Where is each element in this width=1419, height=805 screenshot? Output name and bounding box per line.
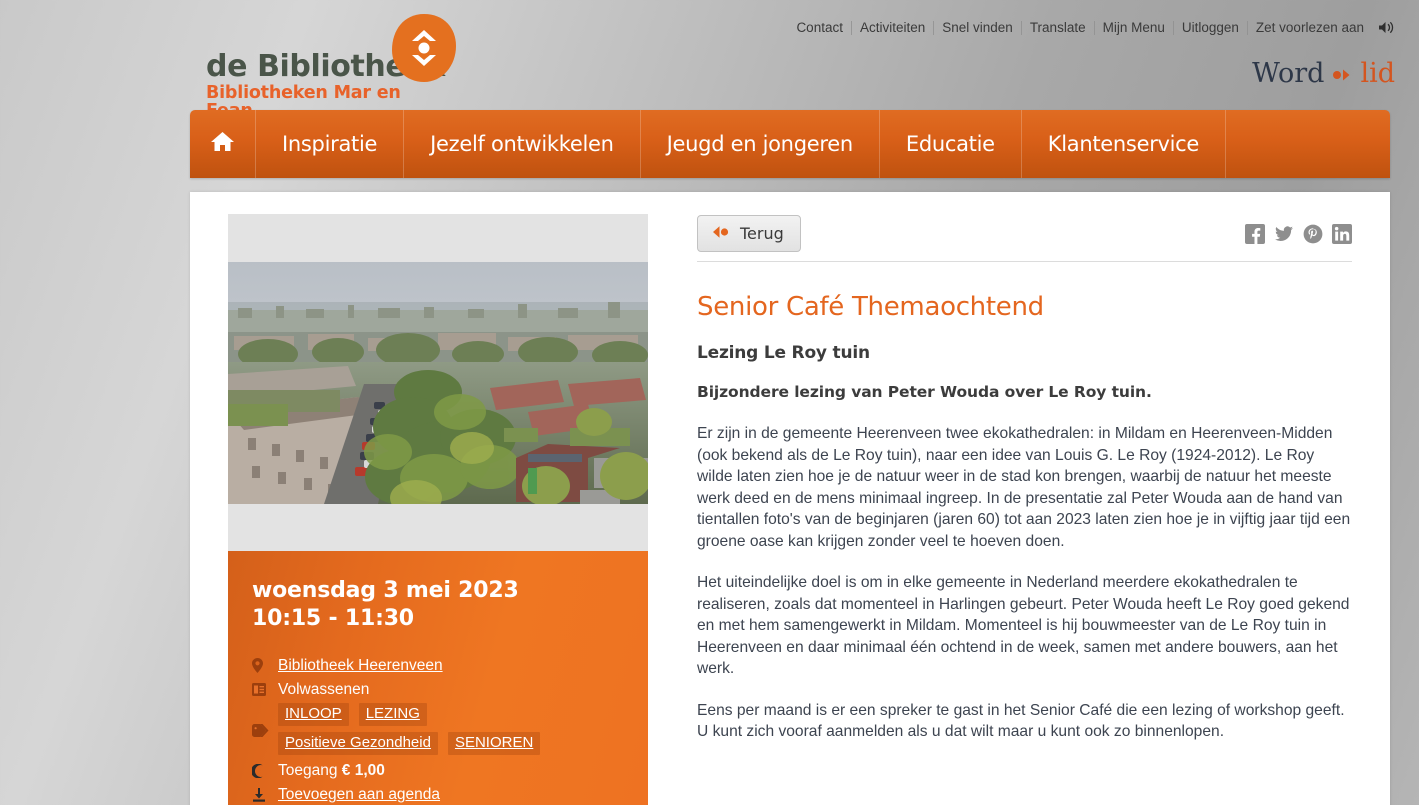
id-card-icon [252, 679, 278, 700]
nav-item-educatie[interactable]: Educatie [880, 110, 1022, 178]
event-audience-row: Volwassenen [252, 679, 624, 700]
site-logo[interactable]: de Bibliotheek Bibliotheken Mar en Fean [202, 22, 452, 112]
location-pin-icon [252, 655, 278, 676]
nav-item-klantenservice[interactable]: Klantenservice [1022, 110, 1226, 178]
event-audience: Volwassenen [278, 679, 369, 700]
add-to-agenda-link[interactable]: Toevoegen aan agenda [278, 784, 440, 805]
event-subtitle: Lezing Le Roy tuin [697, 343, 1352, 363]
become-member-suffix: lid [1360, 58, 1395, 89]
tag-icon [252, 703, 278, 757]
divider [1173, 21, 1174, 35]
divider [1094, 21, 1095, 35]
event-date: woensdag 3 mei 2023 [252, 577, 624, 605]
event-paragraph: Er zijn in de gemeente Heerenveen twee e… [697, 423, 1352, 552]
event-price-row: Toegang € 1,00 [252, 760, 624, 781]
event-meta-list: Bibliotheek Heerenveen Volwassenen INLOO… [252, 655, 624, 805]
event-location-link[interactable]: Bibliotheek Heerenveen [278, 655, 443, 676]
detail-toolbar: Terug [697, 214, 1352, 262]
main-navigation: Inspiratie Jezelf ontwikkelen Jeugd en j… [190, 110, 1390, 178]
event-price-prefix: Toegang [278, 762, 337, 779]
event-detail: Terug Senior Café Themaochtend Lezing Le… [697, 214, 1352, 743]
event-paragraph: Eens per maand is er een spreker te gast… [697, 700, 1352, 743]
event-tag[interactable]: INLOOP [278, 703, 349, 726]
divider [851, 21, 852, 35]
divider [1247, 21, 1248, 35]
back-button-label: Terug [740, 224, 784, 243]
linkedin-icon[interactable] [1332, 224, 1352, 244]
event-image-container [228, 214, 648, 551]
home-icon [210, 130, 235, 158]
nav-item-jezelf-ontwikkelen[interactable]: Jezelf ontwikkelen [404, 110, 641, 178]
speaker-icon[interactable] [1378, 20, 1395, 35]
nav-filler [1226, 110, 1390, 178]
divider [933, 21, 934, 35]
event-tag[interactable]: SENIOREN [448, 732, 540, 755]
utility-link-contact[interactable]: Contact [796, 19, 851, 36]
event-tag[interactable]: Positieve Gezondheid [278, 732, 438, 755]
event-sidebar: woensdag 3 mei 2023 10:15 - 11:30 Biblio… [228, 214, 648, 805]
utility-link-snel-vinden[interactable]: Snel vinden [934, 19, 1021, 36]
social-share-buttons [1245, 224, 1352, 244]
nav-item-jeugd-en-jongeren[interactable]: Jeugd en jongeren [641, 110, 880, 178]
page-content-card: woensdag 3 mei 2023 10:15 - 11:30 Biblio… [190, 192, 1390, 805]
event-tags-row: INLOOP LEZING Positieve Gezondheid SENIO… [252, 703, 624, 757]
utility-link-voorlezen[interactable]: Zet voorlezen aan [1248, 19, 1372, 36]
event-time: 10:15 - 11:30 [252, 605, 624, 633]
event-price-amount: € 1,00 [342, 762, 385, 779]
back-button[interactable]: Terug [697, 215, 801, 252]
event-price: Toegang € 1,00 [278, 760, 385, 781]
coin-icon [252, 760, 278, 781]
become-member-prefix: Word [1252, 58, 1324, 89]
event-tag[interactable]: LEZING [359, 703, 427, 726]
facebook-icon[interactable] [1245, 224, 1265, 244]
utility-link-translate[interactable]: Translate [1022, 19, 1094, 36]
arrow-left-bullet-icon [711, 224, 731, 243]
pinterest-icon[interactable] [1303, 224, 1323, 244]
nav-item-inspiratie[interactable]: Inspiratie [256, 110, 404, 178]
nav-item-home[interactable] [190, 110, 256, 178]
event-lead: Bijzondere lezing van Peter Wouda over L… [697, 383, 1352, 401]
download-icon [252, 784, 278, 805]
utility-link-activiteiten[interactable]: Activiteiten [852, 19, 933, 36]
utility-link-uitloggen[interactable]: Uitloggen [1174, 19, 1247, 36]
arrow-bullet-icon [1331, 58, 1353, 89]
bibliotheek-logo-mark-icon [388, 10, 460, 88]
utility-link-mijn-menu[interactable]: Mijn Menu [1095, 19, 1173, 36]
event-paragraph: Het uiteindelijke doel is om in elke gem… [697, 572, 1352, 680]
divider [1021, 21, 1022, 35]
become-member-link[interactable]: Word lid [1252, 58, 1395, 89]
event-datetime: woensdag 3 mei 2023 10:15 - 11:30 [252, 577, 624, 633]
event-tag-list: INLOOP LEZING Positieve Gezondheid SENIO… [278, 703, 560, 755]
twitter-icon[interactable] [1274, 224, 1294, 244]
utility-nav: Contact Activiteiten Snel vinden Transla… [796, 19, 1395, 36]
event-agenda-row: Toevoegen aan agenda [252, 784, 624, 805]
page-title: Senior Café Themaochtend [697, 292, 1352, 322]
event-location-row: Bibliotheek Heerenveen [252, 655, 624, 676]
event-info-panel: woensdag 3 mei 2023 10:15 - 11:30 Biblio… [228, 551, 648, 805]
aerial-photo-heerenveen-image [228, 262, 648, 504]
